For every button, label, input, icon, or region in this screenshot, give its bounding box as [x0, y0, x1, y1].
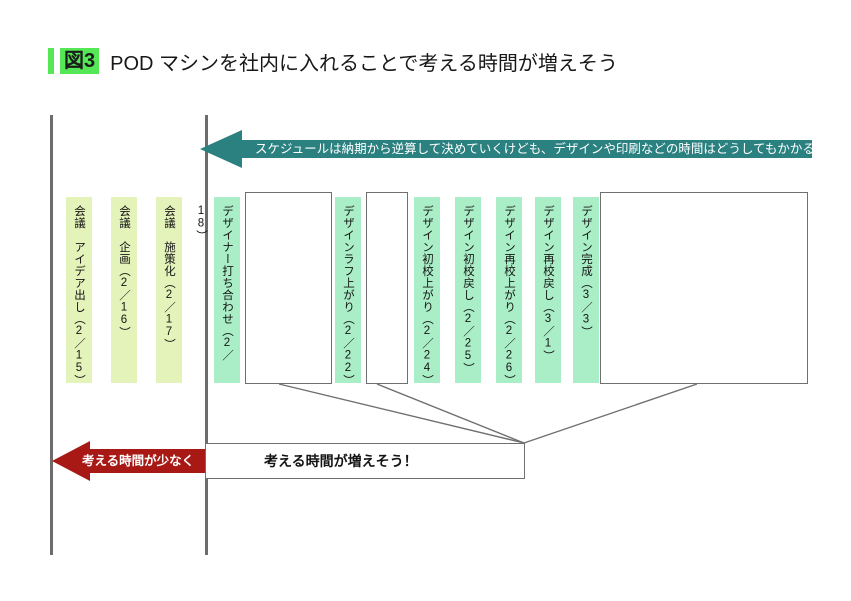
milestone-chip-10[interactable]: デザイン完成（3／3） — [573, 197, 599, 383]
title-heading: POD マシンを社内に入れることで考える時間が増えそう — [110, 47, 618, 76]
milestone-chip-2[interactable]: 会議 企画（2／16） — [111, 197, 137, 383]
milestone-chip-7[interactable]: デザイン初校戻し（2／25） — [455, 197, 481, 383]
slide-canvas: 図3 POD マシンを社内に入れることで考える時間が増えそう スケジュールは納期… — [0, 0, 851, 601]
note-box-1[interactable] — [245, 192, 332, 384]
page-title: 図3 POD マシンを社内に入れることで考える時間が増えそう — [48, 44, 618, 78]
title-accent-bar — [48, 48, 54, 74]
note-box-2[interactable] — [366, 192, 408, 384]
less-thinking-time-arrow: 考える時間が少なく — [52, 441, 207, 481]
callout-label: 考える時間が増えそう！ — [264, 444, 418, 478]
title-badge: 図3 — [60, 48, 99, 74]
connector-line-2 — [377, 384, 524, 443]
more-thinking-time-callout[interactable]: 考える時間が増えそう！ — [205, 443, 525, 479]
connector-line-1 — [279, 384, 524, 443]
milestone-chip-5[interactable]: デザインラフ上がり（2／22） — [335, 197, 361, 383]
red-arrow-label: 考える時間が少なく — [82, 441, 194, 481]
banner-label: スケジュールは納期から逆算して決めていくけども、デザインや印刷などの時間はどうし… — [255, 130, 815, 168]
timeline-rule-left — [50, 115, 53, 555]
milestone-chip-3[interactable]: 会議 施策化（2／17） — [156, 197, 182, 383]
milestone-chip-1[interactable]: 会議 アイデア出し（2／15） — [66, 197, 92, 383]
milestone-chip-4[interactable]: デザイナー打ち合わせ（2／18） — [214, 197, 240, 383]
connector-line-3 — [524, 384, 697, 443]
milestone-chip-6[interactable]: デザイン初校上がり（2／24） — [414, 197, 440, 383]
milestone-chip-8[interactable]: デザイン再校上がり（2／26） — [496, 197, 522, 383]
note-box-3[interactable] — [600, 192, 808, 384]
milestone-chip-9[interactable]: デザイン再校戻し（3／1） — [535, 197, 561, 383]
timeline-rule-mid — [205, 115, 208, 555]
schedule-banner-arrow: スケジュールは納期から逆算して決めていくけども、デザインや印刷などの時間はどうし… — [200, 130, 812, 168]
